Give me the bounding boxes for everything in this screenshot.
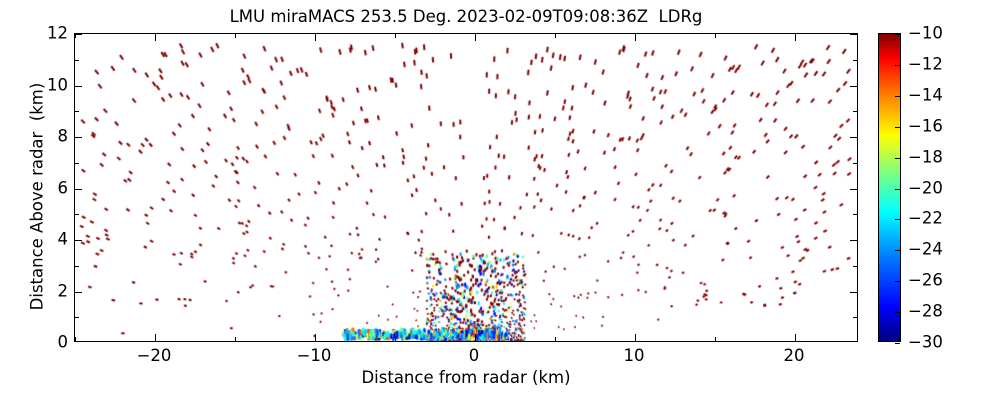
y-tick-major [850,189,857,190]
x-tick-label: −20 [137,346,172,365]
y-tick-minor [853,60,857,61]
x-tick-major [155,34,156,41]
colorbar-tick-label: −16 [908,116,943,135]
page-title: LMU miraMACS 253.5 Deg. 2023-02-09T09:08… [74,7,858,27]
y-tick-minor [75,266,79,267]
colorbar-tick [895,158,900,159]
x-tick-major [795,34,796,41]
y-tick-minor [853,266,857,267]
y-tick-label: 12 [47,24,68,43]
y-tick-label: 6 [58,178,69,197]
y-tick-major [75,34,82,35]
y-tick-label: 10 [47,75,68,94]
x-axis-label: Distance from radar (km) [74,368,858,387]
colorbar-tick [895,343,900,344]
plot-axes [74,33,858,342]
colorbar-tick-label: −30 [908,333,943,352]
colorbar-tick-label: −10 [908,24,943,43]
x-tick-minor [235,337,236,341]
y-tick-minor [853,317,857,318]
y-tick-major [850,34,857,35]
x-tick-major [475,334,476,341]
colorbar-tick-label: −26 [908,271,943,290]
y-tick-label: 2 [58,281,69,300]
x-tick-label: 20 [784,346,805,365]
x-tick-minor [555,337,556,341]
colorbar-tick-label: −22 [908,209,943,228]
y-tick-major [75,240,82,241]
x-tick-major [635,34,636,41]
y-tick-major [75,292,82,293]
y-tick-major [75,137,82,138]
colorbar-tick [895,96,900,97]
y-tick-major [850,86,857,87]
y-tick-minor [75,163,79,164]
colorbar-tick [895,219,900,220]
colorbar-tick [895,281,900,282]
x-tick-label: −10 [297,346,332,365]
x-tick-minor [395,337,396,341]
y-tick-label: 0 [58,333,69,352]
colorbar-tick [895,127,900,128]
y-tick-major [75,86,82,87]
x-tick-minor [715,337,716,341]
x-tick-minor [395,34,396,38]
y-tick-minor [75,60,79,61]
y-tick-major [850,292,857,293]
y-tick-minor [853,214,857,215]
colorbar-tick-label: −20 [908,178,943,197]
colorbar-tick [895,189,900,190]
x-tick-major [475,34,476,41]
colorbar-tick-label: −14 [908,85,943,104]
colorbar-tick [895,250,900,251]
x-tick-major [315,34,316,41]
y-tick-label: 8 [58,127,69,146]
colorbar-tick [895,34,900,35]
x-tick-minor [235,34,236,38]
colorbar-tick-label: −12 [908,54,943,73]
x-tick-label: 10 [624,346,645,365]
y-tick-major [850,240,857,241]
x-tick-label: 0 [469,346,480,365]
x-tick-minor [555,34,556,38]
colorbar [878,33,901,342]
colorbar-tick-label: −24 [908,240,943,259]
colorbar-tick [895,312,900,313]
x-tick-major [315,334,316,341]
y-tick-minor [75,317,79,318]
x-tick-minor [75,337,76,341]
radar-rhi-figure: LMU miraMACS 253.5 Deg. 2023-02-09T09:08… [0,0,1000,400]
x-tick-major [155,334,156,341]
x-tick-major [635,334,636,341]
y-tick-minor [75,214,79,215]
colorbar-tick [895,65,900,66]
y-tick-minor [75,111,79,112]
y-tick-minor [853,163,857,164]
colorbar-tick-label: −28 [908,302,943,321]
y-tick-minor [853,111,857,112]
y-axis-label: Distance Above radar (km) [28,42,47,352]
y-tick-major [850,137,857,138]
radar-data-layer [75,34,857,341]
y-tick-major [75,189,82,190]
x-tick-major [795,334,796,341]
y-tick-label: 4 [58,230,69,249]
x-tick-minor [715,34,716,38]
colorbar-tick-label: −18 [908,147,943,166]
